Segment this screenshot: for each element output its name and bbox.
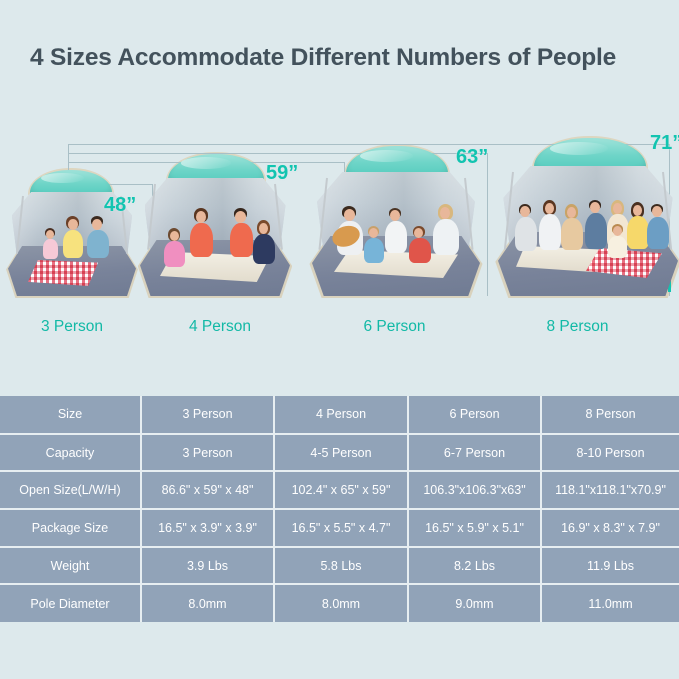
table-cell: 86.6" x 59" x 48"	[141, 471, 274, 509]
tent-3-person: 48”	[8, 168, 136, 296]
tent-6-person: 63”	[312, 144, 480, 296]
tent-occupant	[42, 228, 60, 262]
tent-8-person: 71”	[498, 136, 678, 296]
row-header: Weight	[0, 547, 141, 585]
height-label-63: 63”	[456, 146, 488, 169]
tent-occupant	[608, 224, 628, 258]
row-header: Pole Diameter	[0, 584, 141, 622]
row-header: Capacity	[0, 434, 141, 472]
page-title: 4 Sizes Accommodate Different Numbers of…	[30, 44, 616, 72]
tent-occupant	[560, 204, 584, 256]
tent-occupant	[228, 208, 254, 262]
table-cell: 6-7 Person	[408, 434, 541, 472]
table-cell: 118.1"x118.1"x70.9"	[541, 471, 679, 509]
table-cell: 4 Person	[274, 396, 408, 434]
tent-occupant	[408, 226, 432, 264]
table-cell: 8.0mm	[274, 584, 408, 622]
table-row: Pole Diameter 8.0mm 8.0mm 9.0mm 11.0mm	[0, 584, 679, 622]
table-cell: 16.5" x 5.5" x 4.7"	[274, 509, 408, 547]
row-header: Package Size	[0, 509, 141, 547]
table-cell: 5.8 Lbs	[274, 547, 408, 585]
table-row: Weight 3.9 Lbs 5.8 Lbs 8.2 Lbs 11.9 Lbs	[0, 547, 679, 585]
height-label-71: 71”	[650, 132, 679, 155]
table-cell: 8.2 Lbs	[408, 547, 541, 585]
tent-caption-8-person: 8 Person	[500, 318, 655, 336]
tent-caption-6-person: 6 Person	[312, 318, 477, 336]
tent-occupant	[384, 208, 408, 260]
tent-occupant	[432, 204, 460, 262]
row-header: Size	[0, 396, 141, 434]
table-row: Open Size(L/W/H) 86.6" x 59" x 48" 102.4…	[0, 471, 679, 509]
picnic-blanket	[28, 260, 98, 286]
table-cell: 11.0mm	[541, 584, 679, 622]
table-cell: 6 Person	[408, 396, 541, 434]
height-label-48: 48”	[104, 194, 136, 217]
table-cell: 4-5 Person	[274, 434, 408, 472]
row-header: Open Size(L/W/H)	[0, 471, 141, 509]
table-cell: 3 Person	[141, 396, 274, 434]
table-cell: 3.9 Lbs	[141, 547, 274, 585]
tent-occupant	[188, 208, 214, 262]
table-cell: 11.9 Lbs	[541, 547, 679, 585]
tent-occupant	[584, 200, 608, 256]
table-cell: 16.9" x 8.3" x 7.9"	[541, 509, 679, 547]
tent-occupant	[62, 216, 84, 262]
table-cell: 3 Person	[141, 434, 274, 472]
table-row: Size 3 Person 4 Person 6 Person 8 Person	[0, 396, 679, 434]
table-cell: 102.4" x 65" x 59"	[274, 471, 408, 509]
tent-occupant	[646, 204, 670, 256]
height-label-59: 59”	[266, 162, 298, 185]
table-cell: 106.3"x106.3"x63"	[408, 471, 541, 509]
tent-occupant	[86, 216, 110, 262]
tent-caption-4-person: 4 Person	[145, 318, 295, 336]
tent-4-person: 59”	[140, 152, 290, 296]
table-cell: 16.5" x 5.9" x 5.1"	[408, 509, 541, 547]
table-row: Capacity 3 Person 4-5 Person 6-7 Person …	[0, 434, 679, 472]
tent-occupant	[514, 204, 538, 258]
table-cell: 9.0mm	[408, 584, 541, 622]
table-row: Package Size 16.5" x 3.9" x 3.9" 16.5" x…	[0, 509, 679, 547]
table-cell: 8.0mm	[141, 584, 274, 622]
tent-occupant	[538, 200, 562, 256]
table-cell: 8 Person	[541, 396, 679, 434]
tent-occupant	[364, 226, 386, 264]
specifications-table: Size 3 Person 4 Person 6 Person 8 Person…	[0, 396, 679, 622]
table-cell: 16.5" x 3.9" x 3.9"	[141, 509, 274, 547]
tent-occupant	[252, 220, 276, 266]
table-cell: 8-10 Person	[541, 434, 679, 472]
tent-caption-3-person: 3 Person	[8, 318, 136, 336]
tent-occupant	[164, 228, 186, 268]
